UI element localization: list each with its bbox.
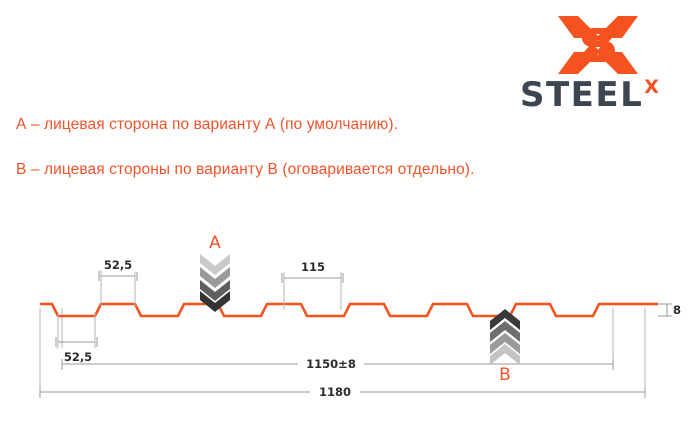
- dimension-working-width-label: 1150±8: [306, 357, 356, 371]
- dimension-height: 8: [658, 303, 681, 317]
- sheet-profile-outline: [40, 304, 658, 316]
- profile-cross-section-drawing: 52,5 52,5 115 8 1150±8: [0, 220, 700, 436]
- wordmark-steel: STEEL: [520, 76, 643, 114]
- dimension-pitch: 115: [282, 258, 343, 310]
- marker-b: В: [490, 309, 520, 385]
- dimension-pitch-label: 115: [301, 260, 325, 274]
- dimension-crest-width-label: 52,5: [104, 258, 132, 272]
- marker-b-label: В: [499, 365, 511, 385]
- marker-b-chevrons-up-icon: [490, 309, 520, 365]
- dimension-working-width: 1150±8: [62, 354, 613, 371]
- steelx-x-monogram-icon: [556, 14, 640, 76]
- marker-a-label: А: [209, 233, 221, 253]
- brand-logo: STEELX: [520, 14, 692, 114]
- dimension-height-label: 8: [673, 303, 681, 317]
- marker-a-chevrons-down-icon: [200, 254, 230, 312]
- note-variant-b: В – лицевая стороны по варианту В (огова…: [16, 161, 474, 179]
- dimension-total-width-label: 1180: [319, 385, 351, 399]
- dimension-total-width: 1180: [40, 382, 645, 399]
- dimension-valley-width-label: 52,5: [64, 350, 92, 364]
- marker-a: А: [200, 233, 230, 312]
- note-variant-a: А – лицевая сторона по варианту А (по ум…: [16, 116, 398, 134]
- wordmark-x-superscript: X: [644, 76, 659, 98]
- dimension-crest-width: 52,5: [99, 256, 140, 306]
- brand-wordmark: STEELX: [520, 76, 692, 114]
